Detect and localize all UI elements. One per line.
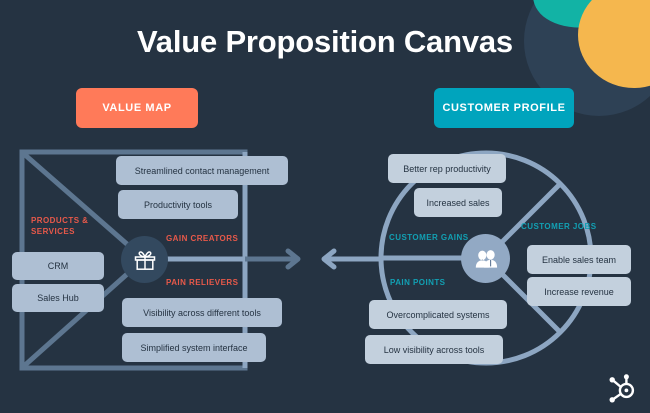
hubspot-sprocket-logo: [604, 370, 638, 404]
box-gain-creator-2[interactable]: Productivity tools: [118, 190, 238, 219]
label-customer-gains: CUSTOMER GAINS: [389, 232, 469, 243]
box-pain-point-2[interactable]: Low visibility across tools: [365, 335, 503, 364]
box-pain-reliever-2[interactable]: Simplified system interface: [122, 333, 266, 362]
box-gain-creator-1[interactable]: Streamlined contact management: [116, 156, 288, 185]
value-map-hub: [121, 236, 168, 283]
label-customer-jobs: CUSTOMER JOBS: [521, 221, 597, 232]
label-pain-points: PAIN POINTS: [390, 277, 445, 288]
box-product-service-2[interactable]: Sales Hub: [12, 284, 104, 312]
box-product-service-1[interactable]: CRM: [12, 252, 104, 280]
box-customer-job-1[interactable]: Enable sales team: [527, 245, 631, 274]
box-customer-gain-1[interactable]: Better rep productivity: [388, 154, 506, 183]
arrow-right-icon: [245, 251, 298, 267]
people-icon: [473, 246, 499, 272]
arrow-left-icon: [324, 251, 380, 267]
label-pain-relievers: PAIN RELIEVERS: [166, 277, 238, 288]
box-customer-job-2[interactable]: Increase revenue: [527, 277, 631, 306]
box-pain-reliever-1[interactable]: Visibility across different tools: [122, 298, 282, 327]
gift-icon: [133, 248, 157, 272]
box-pain-point-1[interactable]: Overcomplicated systems: [369, 300, 507, 329]
canvas: Value Proposition Canvas VALUE MAP CUSTO…: [0, 0, 650, 413]
label-gain-creators: GAIN CREATORS: [166, 233, 238, 244]
box-customer-gain-2[interactable]: Increased sales: [414, 188, 502, 217]
diagram-structure: [0, 0, 650, 413]
